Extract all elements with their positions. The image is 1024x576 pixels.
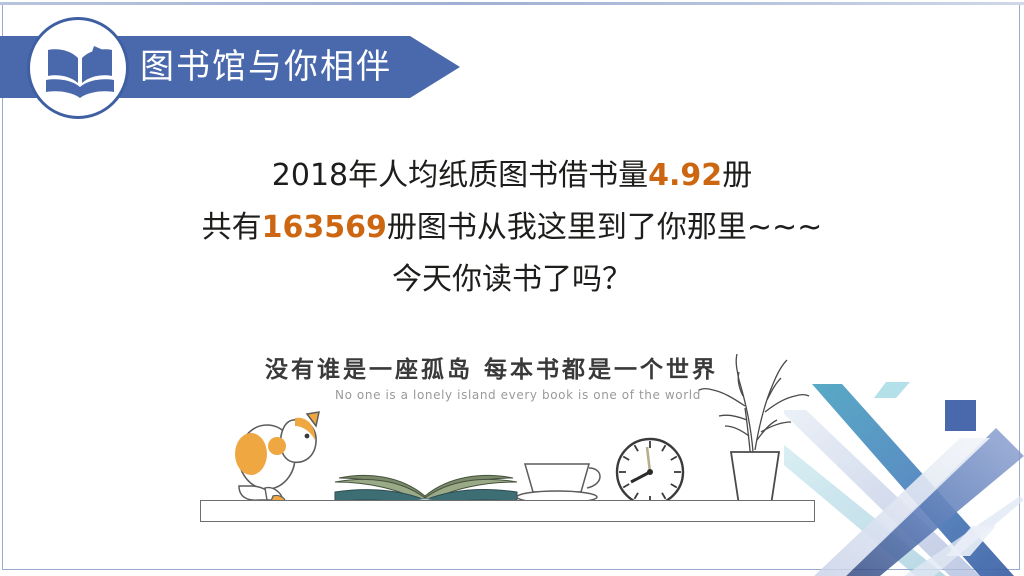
stat-line-2: 共有163569册图书从我这里到了你那里~~~ — [0, 202, 1024, 254]
top-rule — [0, 2, 1024, 5]
potted-plant-icon — [695, 340, 815, 508]
bookshelf-board — [200, 500, 815, 522]
per-capita-value: 4.92 — [648, 158, 722, 193]
stat-line-1-part-1: 2018年人均纸质图书借书量 — [272, 158, 648, 193]
illustration-tagline-cn: 没有谁是一座孤岛 每本书都是一个世界 — [265, 350, 718, 384]
illustration-tagline-en: No one is a lonely island every book is … — [335, 388, 701, 402]
wall-clock-icon — [613, 435, 687, 509]
library-logo — [27, 17, 129, 119]
question-line: 今天你读书了吗？ — [0, 254, 1024, 306]
open-book-icon — [44, 42, 116, 100]
stat-line-1: 2018年人均纸质图书借书量4.92册 — [0, 150, 1024, 202]
body-text-block: 2018年人均纸质图书借书量4.92册 共有163569册图书从我这里到了你那里… — [0, 150, 1024, 306]
slide-canvas: 图书馆与你相伴 2018年人均纸质图书借书量4.92册 共有163569册图书从… — [0, 0, 1024, 576]
decorative-square — [945, 400, 976, 431]
stat-line-2-part-3: 册图书从我这里到了你那里~~~ — [387, 210, 822, 245]
stat-line-1-part-3: 册 — [722, 158, 752, 193]
stat-line-2-part-1: 共有 — [202, 210, 262, 245]
total-books-value: 163569 — [262, 210, 387, 245]
reading-illustration: 没有谁是一座孤岛 每本书都是一个世界 No one is a lonely is… — [195, 340, 835, 530]
page-title: 图书馆与你相伴 — [140, 36, 392, 98]
